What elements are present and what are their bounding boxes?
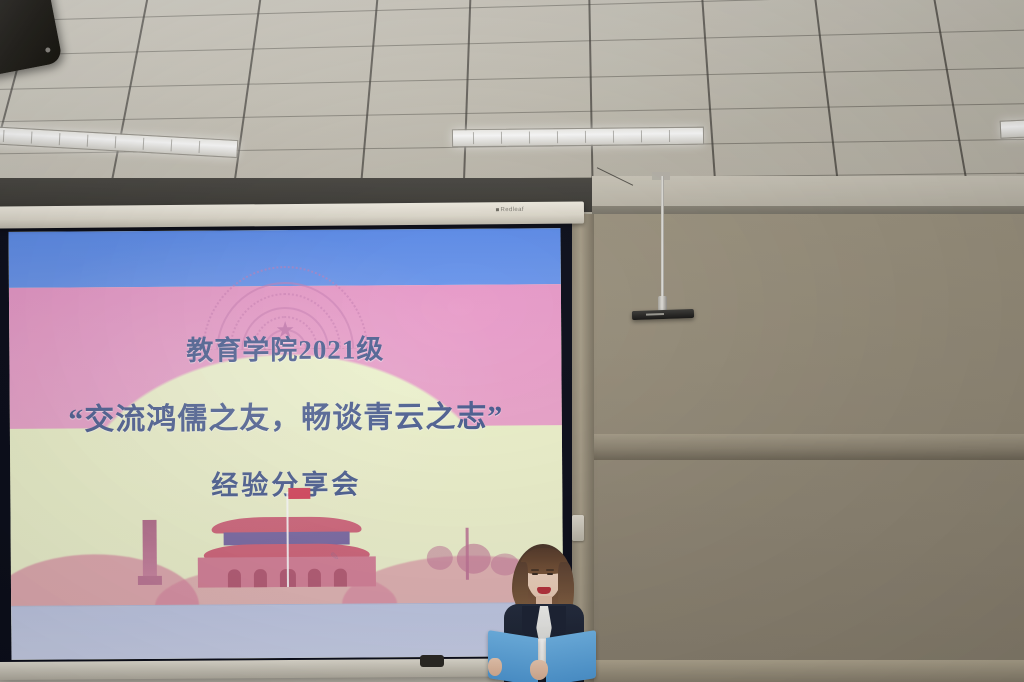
student-presenter bbox=[486, 540, 598, 682]
flagpole-shape bbox=[286, 491, 289, 586]
slide-line-2: “交流鸿儒之友，畅谈青云之志” bbox=[10, 392, 562, 440]
blackboard-divider-rail bbox=[586, 434, 1024, 460]
hanging-rod bbox=[661, 176, 664, 306]
eyebrow-left bbox=[531, 569, 539, 571]
slide-surface: ★ 教育学院2021级 “交流鸿儒之友，畅谈青云之志” 经验分享会 bbox=[8, 228, 563, 660]
classroom-photo: Redleaf ★ 教育学院2021级 “交流鸿儒之友，畅谈青云之志” 经验分享… bbox=[0, 0, 1024, 682]
slide-band-bottom bbox=[11, 602, 563, 660]
screen-clip bbox=[420, 655, 444, 667]
wall-switch-plate[interactable] bbox=[572, 515, 584, 541]
screen-brand-logo: Redleaf bbox=[495, 207, 524, 213]
monument-shape bbox=[143, 519, 157, 577]
hand-right bbox=[530, 660, 548, 680]
folder-right-cover bbox=[546, 630, 596, 682]
chalk-tray bbox=[586, 660, 1024, 682]
slide-illustration-tiananmen bbox=[10, 473, 563, 607]
mouth bbox=[537, 587, 551, 594]
flag-shape bbox=[288, 487, 310, 498]
ceiling-light-center bbox=[452, 127, 704, 148]
eye-left bbox=[532, 573, 538, 575]
eyebrow-right bbox=[546, 569, 554, 571]
slide-faint-mark: ✎ bbox=[330, 544, 432, 592]
eye-right bbox=[547, 573, 553, 575]
slide-line-1: 教育学院2021级 bbox=[9, 327, 561, 370]
ceiling bbox=[0, 0, 1024, 205]
hand-left bbox=[488, 658, 502, 676]
